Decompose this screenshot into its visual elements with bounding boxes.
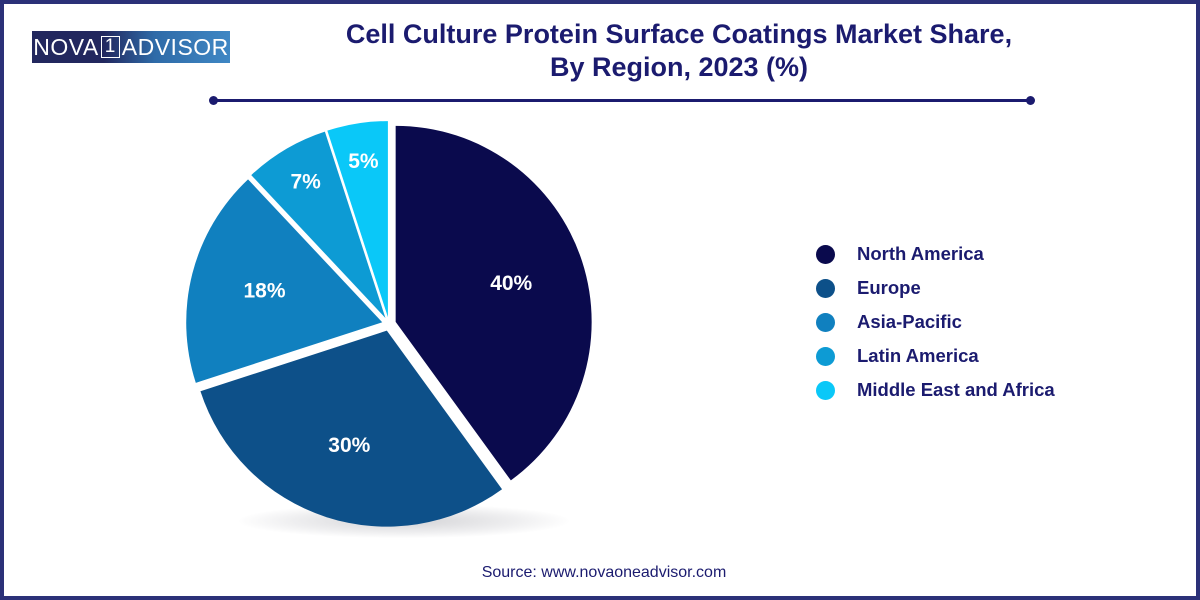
legend-item-label: Middle East and Africa (857, 379, 1055, 401)
logo-text-nova: NOVA (33, 34, 98, 61)
pie-slice-label: 5% (348, 150, 379, 173)
legend-swatch-icon (816, 347, 835, 366)
chart-page: NOVA1ADVISOR Cell Culture Protein Surfac… (0, 0, 1200, 600)
legend-item-label: North America (857, 243, 984, 265)
legend-item[interactable]: Asia-Pacific (816, 305, 1146, 339)
legend-item[interactable]: North America (816, 237, 1146, 271)
legend-item-label: Asia-Pacific (857, 311, 962, 333)
pie-svg: 40%30%18%7%5% (154, 109, 634, 559)
pie-chart: 40%30%18%7%5% (154, 109, 634, 559)
legend-swatch-icon (816, 245, 835, 264)
legend-swatch-icon (816, 313, 835, 332)
pie-slice-label: 30% (328, 434, 370, 457)
logo-text: NOVA1ADVISOR (33, 34, 229, 61)
page-title: Cell Culture Protein Surface Coatings Ma… (234, 18, 1124, 84)
source-caption: Source: www.novaoneadvisor.com (4, 564, 1200, 582)
pie-slice-label: 7% (290, 171, 321, 194)
divider-dot-right (1026, 96, 1035, 105)
legend-item-label: Latin America (857, 345, 979, 367)
legend-swatch-icon (816, 381, 835, 400)
logo-badge-one: 1 (101, 36, 120, 58)
chart-legend: North AmericaEuropeAsia-PacificLatin Ame… (816, 237, 1146, 407)
pie-slice-group (186, 121, 591, 527)
pie-slice-label: 18% (244, 280, 286, 303)
legend-item[interactable]: Middle East and Africa (816, 373, 1146, 407)
pie-slice-label: 40% (490, 272, 532, 295)
page-title-line-1: Cell Culture Protein Surface Coatings Ma… (234, 18, 1124, 51)
divider-rule (213, 99, 1031, 102)
legend-item[interactable]: Europe (816, 271, 1146, 305)
title-divider (209, 96, 1035, 105)
logo-text-advisor: ADVISOR (122, 34, 229, 61)
legend-item-label: Europe (857, 277, 921, 299)
nova-advisor-logo: NOVA1ADVISOR (32, 31, 230, 63)
legend-swatch-icon (816, 279, 835, 298)
legend-item[interactable]: Latin America (816, 339, 1146, 373)
page-title-line-2: By Region, 2023 (%) (234, 51, 1124, 84)
